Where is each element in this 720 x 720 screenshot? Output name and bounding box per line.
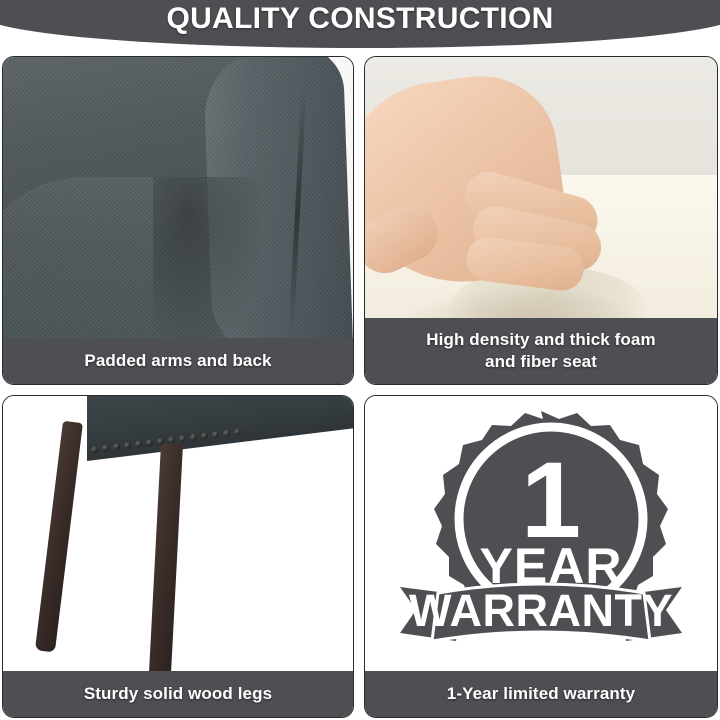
nailhead [234,428,241,436]
caption-padded-arms: Padded arms and back [3,338,353,384]
header-banner: QUALITY CONSTRUCTION [0,0,720,52]
nailhead [135,440,142,448]
page-title: QUALITY CONSTRUCTION [0,2,720,36]
caption-text-line-1: High density and thick foam [426,329,655,351]
feature-tile-high-density-foam: High density and thick foam and fiber se… [364,56,718,385]
caption-text: 1-Year limited warranty [447,683,635,705]
warranty-ribbon-label: WARRANTY [409,585,673,636]
feature-tile-padded-arms: Padded arms and back [2,56,354,385]
nailhead [212,431,219,439]
nailhead [179,435,186,443]
wood-legs-photo [3,396,353,717]
nailhead [201,432,208,440]
chair-arm-photo [3,57,353,384]
nailhead [223,429,230,437]
nailhead [190,434,197,442]
caption-wood-legs: Sturdy solid wood legs [3,671,353,717]
caption-text: Padded arms and back [84,350,271,372]
nailhead [102,444,109,452]
caption-text: Sturdy solid wood legs [84,683,272,705]
feature-tile-wood-legs: Sturdy solid wood legs [2,395,354,718]
feature-tile-warranty: 1 YEAR WARRANTY 1-Year limited warranty [364,395,718,718]
caption-warranty: 1-Year limited warranty [365,671,717,717]
caption-text-line-2: and fiber seat [426,351,655,373]
caption-high-density-foam: High density and thick foam and fiber se… [365,318,717,384]
feature-grid: Padded arms and back High de [0,56,720,720]
warranty-seal-icon: 1 YEAR WARRANTY [396,405,686,663]
nailhead [113,443,120,451]
pressing-hand [365,64,625,339]
product-feature-infographic: QUALITY CONSTRUCTION Padded arms and bac… [0,0,720,720]
nailhead [124,442,131,450]
nailhead [146,439,153,447]
warranty-badge: 1 YEAR WARRANTY [365,396,717,671]
nailhead [91,446,98,454]
